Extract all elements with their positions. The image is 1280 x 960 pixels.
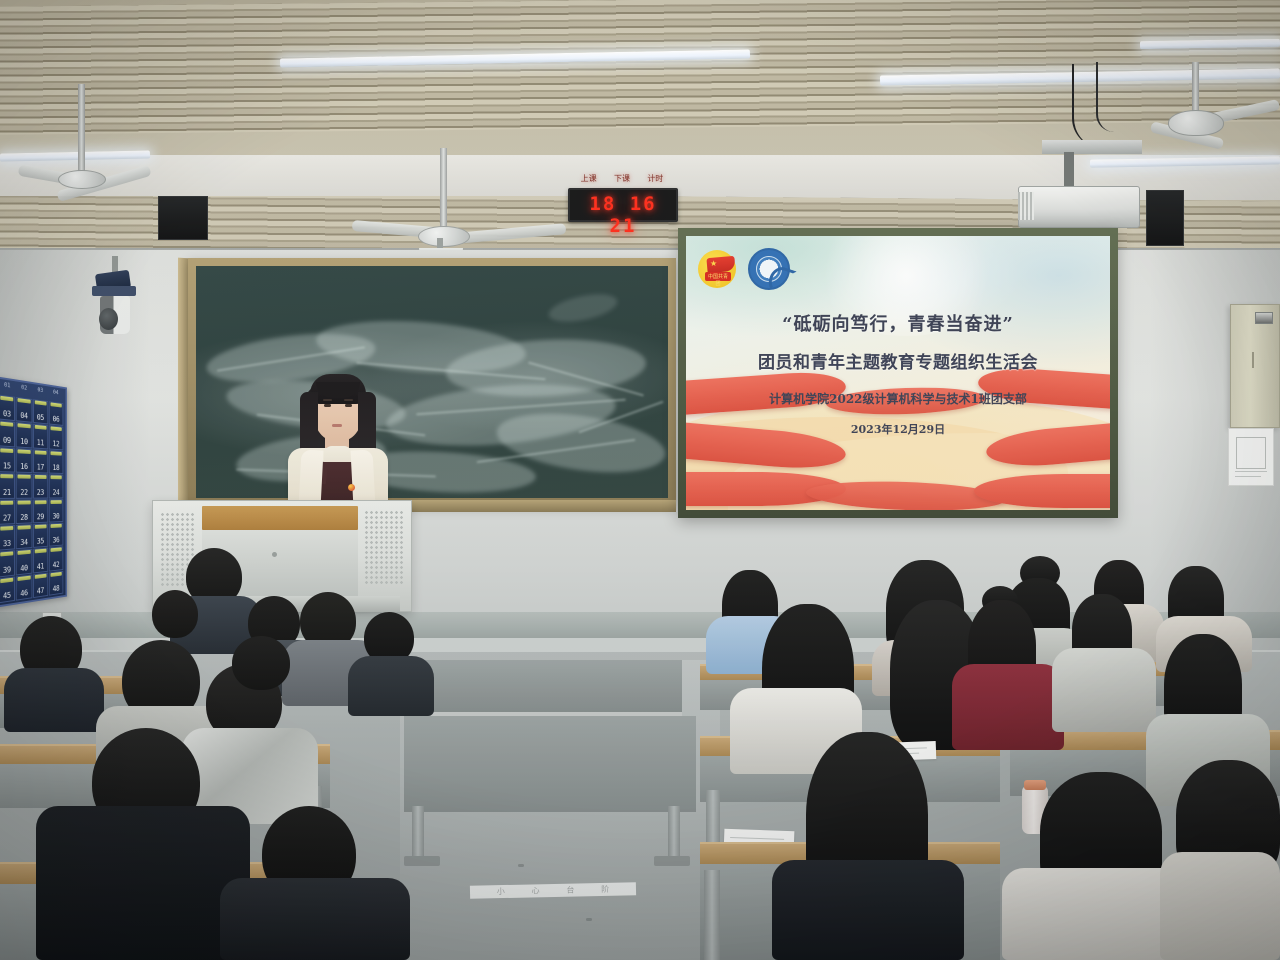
ceiling-fan-pole [78, 84, 85, 174]
pocket-cell[interactable]: 41 [33, 548, 48, 573]
pocket-number: 06 [49, 415, 62, 425]
pocket-cell[interactable]: 18 [49, 450, 64, 474]
pocket-number: 23 [34, 488, 48, 497]
led-label: 计时 [647, 173, 663, 184]
pocket-cell[interactable]: 36 [49, 523, 64, 547]
wall-speaker [158, 196, 208, 240]
pocket-cell[interactable]: 03 [0, 395, 15, 422]
pocket-number: 46 [17, 588, 31, 599]
pocket-cell[interactable]: 27 [0, 499, 15, 524]
pocket-number: 47 [34, 586, 48, 596]
pocket-cell[interactable]: 17 [33, 449, 48, 473]
blackboard [196, 266, 668, 498]
pocket-cell[interactable]: 45 [0, 576, 15, 603]
pocket-number: 16 [17, 462, 31, 471]
pocket-cell[interactable]: 47 [33, 572, 48, 598]
pocket-number: 10 [17, 437, 31, 447]
wall-speaker [1146, 190, 1184, 246]
pocket-number: 48 [49, 584, 62, 594]
student-body [952, 664, 1064, 750]
slide-subtitle: 团员和青年主题教育专题组织生活会 [686, 348, 1110, 373]
pocket-cell[interactable]: 06 [49, 401, 64, 426]
pocket-cell[interactable]: 33 [0, 525, 15, 551]
lapel-badge-icon [348, 484, 355, 491]
classroom-photo: 01 02 03 04 0304050609101112151617182122… [0, 0, 1280, 960]
pocket-grid: 0304050609101112151617182122232427282930… [0, 395, 63, 604]
pocket-number: 28 [17, 513, 31, 522]
desk-foot [404, 856, 440, 866]
slide-date: 2023年12月29日 [686, 421, 1110, 437]
student-head [232, 636, 290, 690]
pocket-number: 18 [49, 463, 62, 472]
university-seal-emblem-icon [748, 248, 790, 290]
notice-inner-box [1236, 437, 1266, 469]
lectern-knob[interactable] [272, 552, 277, 557]
student-body [1160, 852, 1280, 960]
student-body [4, 668, 104, 732]
pocket-number: 33 [0, 539, 14, 549]
pocket-number: 30 [49, 512, 62, 521]
student-body [772, 860, 964, 960]
pocket-number: 24 [49, 488, 62, 496]
slide-organization: 计算机学院2022级计算机科学与技术1班团支部 [686, 390, 1110, 407]
floor-mark-char: 阶 [601, 884, 609, 895]
pocket-cell[interactable]: 29 [33, 499, 48, 523]
pocket-cell[interactable]: 04 [16, 397, 32, 423]
pocket-number: 11 [34, 438, 48, 447]
student-body [1052, 648, 1156, 732]
slide-title: “砥砺向笃行，青春当奋进” [686, 310, 1110, 336]
pocket-cell[interactable]: 24 [49, 475, 64, 498]
pocket-cell[interactable]: 12 [49, 426, 64, 450]
pocket-number: 36 [49, 536, 62, 545]
pocket-number: 27 [0, 513, 14, 522]
pocket-number: 17 [34, 463, 48, 472]
projector-mount-bar [1042, 140, 1142, 154]
bottle-cap [1024, 780, 1046, 790]
pocket-number: 03 [0, 409, 14, 419]
pocket-number: 09 [0, 435, 14, 445]
lectern-speaker-grille [364, 510, 404, 586]
pocket-cell[interactable]: 42 [49, 547, 64, 572]
pocket-number: 15 [0, 461, 14, 470]
led-label: 下课 [614, 173, 630, 184]
pocket-cell[interactable]: 21 [0, 473, 15, 498]
camera-lens-icon [99, 308, 118, 330]
pocket-number: 29 [34, 512, 48, 521]
pocket-cell[interactable]: 39 [0, 551, 15, 578]
pocket-cell[interactable]: 35 [33, 523, 48, 548]
pocket-cell[interactable]: 23 [33, 474, 48, 498]
pocket-cell[interactable]: 10 [16, 423, 32, 449]
ceiling-projector [1018, 186, 1140, 228]
led-clock-labels: 上课 下课 计时 [572, 170, 672, 186]
pocket-number: 39 [0, 565, 14, 575]
pocket-number: 05 [34, 413, 48, 423]
pocket-cell[interactable]: 09 [0, 421, 15, 447]
floor-mark-char: 心 [531, 885, 539, 896]
camera-bracket [92, 286, 136, 296]
student-body [220, 878, 410, 960]
pocket-header-cell: 03 [32, 386, 48, 400]
student-body [36, 806, 250, 960]
pocket-cell[interactable]: 15 [0, 447, 15, 473]
led-clock-time: 18 16 21 [570, 193, 676, 237]
student-body [348, 656, 434, 716]
ceiling-fan-pole [1192, 62, 1199, 114]
ceiling-fan-pole [440, 148, 447, 230]
pocket-number: 04 [17, 411, 31, 421]
desk-back-panel [404, 716, 696, 812]
pocket-cell[interactable]: 11 [33, 424, 48, 449]
phone-pocket-organizer[interactable]: 01 02 03 04 0304050609101112151617182122… [0, 376, 67, 608]
projection-screen[interactable]: ★ 中国共青团 “砥砺向笃行，青春当奋进” 团员和青年主题教育专题组织生活会 计… [686, 236, 1110, 510]
cabinet-latch[interactable] [1255, 312, 1273, 324]
pocket-cell[interactable]: 16 [16, 448, 32, 473]
pocket-cell[interactable]: 28 [16, 499, 32, 524]
floor-mark-char: 小 [497, 886, 505, 897]
pocket-cell[interactable]: 46 [16, 574, 32, 600]
pocket-header-cell: 02 [16, 383, 33, 397]
led-label: 上课 [581, 173, 597, 184]
communist-youth-league-emblem-icon: ★ 中国共青团 [698, 250, 736, 288]
desk-leg [704, 870, 720, 960]
pocket-number: 21 [0, 488, 14, 497]
pocket-header-cell: 04 [48, 388, 63, 401]
led-clock-display: 18 16 21 [568, 188, 678, 222]
floor-mark-char: 台 [566, 885, 574, 896]
pocket-cell[interactable]: 30 [49, 499, 64, 523]
desk-back-panel [420, 660, 682, 712]
pocket-cell[interactable]: 40 [16, 549, 32, 575]
pocket-number: 22 [17, 488, 31, 497]
pocket-number: 34 [17, 538, 31, 548]
lectern-wood-panel [202, 506, 358, 530]
pocket-number: 45 [0, 590, 14, 601]
pocket-cell[interactable]: 48 [49, 570, 64, 595]
pocket-number: 42 [49, 560, 62, 570]
projector-vent [1018, 192, 1034, 220]
pocket-number: 35 [34, 537, 48, 546]
projector-cable [1096, 62, 1114, 132]
pocket-number: 41 [34, 561, 48, 571]
pocket-number: 12 [49, 439, 62, 448]
pocket-cell[interactable]: 22 [16, 474, 32, 499]
student-head [152, 590, 198, 638]
projector-arm [1064, 152, 1074, 188]
desk-foot [654, 856, 690, 866]
cabinet-door-seam [1252, 352, 1254, 368]
pocket-header-cell: 01 [0, 381, 16, 395]
pocket-cell[interactable]: 34 [16, 524, 32, 549]
pocket-number: 40 [17, 563, 31, 573]
pocket-cell[interactable]: 05 [33, 399, 48, 425]
